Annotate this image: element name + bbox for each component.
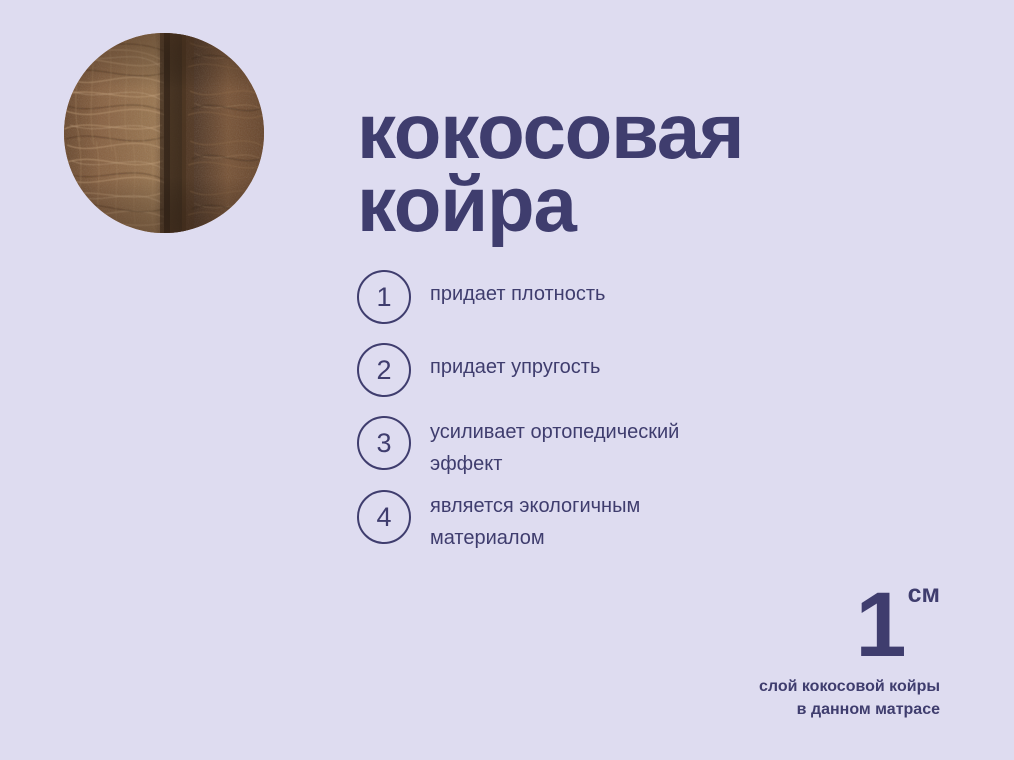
callout-number: 1: [855, 574, 905, 676]
list-item-number: 3: [376, 430, 391, 457]
coir-texture-graphic: [64, 33, 264, 233]
page-title: кокосовая койра: [357, 95, 957, 240]
callout-caption: слой кокосовой койры в данном матрасе: [759, 675, 940, 721]
thickness-callout: 1см слой кокосовой койры в данном матрас…: [759, 588, 940, 721]
list-item-number-badge: 2: [357, 343, 411, 397]
list-item-label: усиливает ортопедический эффект: [430, 416, 679, 480]
list-item-label: придает упругость: [430, 343, 600, 383]
list-item-number-badge: 1: [357, 270, 411, 324]
list-item-number-badge: 4: [357, 490, 411, 544]
list-item-number: 4: [376, 504, 391, 531]
list-item: 1 придает плотность: [357, 270, 605, 324]
callout-unit: см: [908, 580, 940, 608]
list-item-number-badge: 3: [357, 416, 411, 470]
list-item: 3 усиливает ортопедический эффект: [357, 416, 679, 480]
coconut-coir-photo: [64, 33, 264, 233]
list-item-number: 1: [376, 284, 391, 311]
list-item-label: является экологичным материалом: [430, 490, 640, 554]
list-item: 4 является экологичным материалом: [357, 490, 640, 554]
list-item-label: придает плотность: [430, 270, 605, 310]
list-item-number: 2: [376, 357, 391, 384]
slide-root: кокосовая койра 1 придает плотность 2 пр…: [0, 0, 1014, 760]
callout-value: 1см: [759, 588, 940, 663]
list-item: 2 придает упругость: [357, 343, 600, 397]
